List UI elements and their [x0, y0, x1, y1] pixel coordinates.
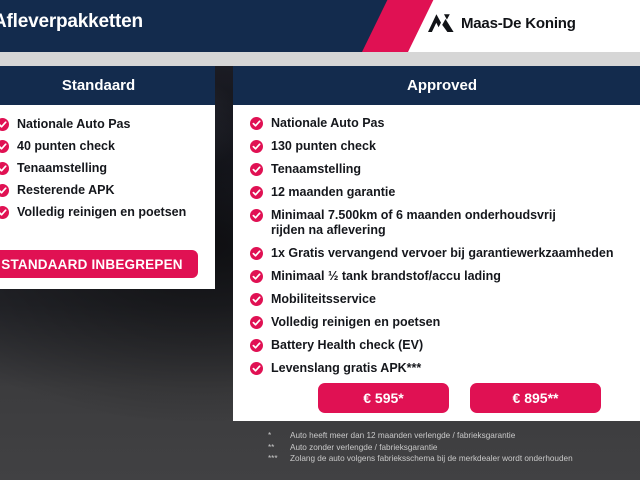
approved-feature-label: Battery Health check (EV) [271, 338, 423, 352]
approved-feature-label: Levenslang gratis APK*** [271, 361, 421, 375]
check-circle-icon [250, 270, 263, 283]
approved-feature-text-wrap: Tenaamstelling [271, 162, 361, 177]
check-circle-icon [0, 118, 9, 131]
check-circle-icon [250, 163, 263, 176]
brand-logo: Maas-De Koning [428, 13, 576, 33]
approved-feature-text-wrap: Minimaal 7.500km of 6 maanden onderhouds… [271, 208, 556, 238]
standaard-feature-item: Tenaamstelling [0, 161, 215, 176]
page-title: Afleverpakketten [0, 11, 143, 33]
approved-feature-label: Tenaamstelling [271, 162, 361, 176]
approved-feature-item: Tenaamstelling [250, 162, 640, 177]
approved-feature-label: Mobiliteitsservice [271, 292, 376, 306]
footnote-text: Zolang de auto volgens fabrieksschema bi… [290, 453, 573, 465]
check-circle-icon [250, 362, 263, 375]
approved-feature-text-wrap: Volledig reinigen en poetsen [271, 315, 440, 330]
price-button-1[interactable]: € 595* [318, 383, 449, 413]
approved-feature-item: Minimaal 7.500km of 6 maanden onderhouds… [250, 208, 640, 238]
approved-feature-item: 12 maanden garantie [250, 185, 640, 200]
check-circle-icon [250, 186, 263, 199]
standaard-feature-item: Volledig reinigen en poetsen [0, 205, 215, 220]
price-button-row: € 595*€ 895** [233, 383, 640, 413]
approved-feature-text-wrap: 12 maanden garantie [271, 185, 395, 200]
approved-card-heading: Approved [233, 66, 640, 105]
check-circle-icon [250, 270, 263, 283]
check-circle-icon [250, 117, 263, 130]
check-circle-icon [250, 186, 263, 199]
page-header: Afleverpakketten Maas-De Koning [0, 0, 640, 52]
check-circle-icon [250, 339, 263, 352]
check-circle-icon [0, 140, 9, 153]
standaard-feature-label: Resterende APK [17, 183, 115, 198]
standaard-feature-item: 40 punten check [0, 139, 215, 154]
footnote-marker: *** [268, 453, 290, 465]
maas-de-koning-m-icon [428, 13, 454, 33]
approved-feature-item: Minimaal ½ tank brandstof/accu lading [250, 269, 640, 284]
approved-feature-item: Levenslang gratis APK*** [250, 361, 640, 376]
check-circle-icon [250, 316, 263, 329]
price-button-2[interactable]: € 895** [470, 383, 601, 413]
check-circle-icon [0, 206, 9, 219]
approved-feature-label: 12 maanden garantie [271, 185, 395, 199]
standaard-feature-label: Volledig reinigen en poetsen [17, 205, 186, 220]
footnote-text: Auto zonder verlengde / fabrieksgarantie [290, 442, 437, 454]
approved-feature-label: 130 punten check [271, 139, 376, 153]
approved-feature-list: Nationale Auto Pas130 punten checkTenaam… [250, 116, 640, 376]
check-circle-icon [250, 140, 263, 153]
footnote-marker: * [268, 430, 290, 442]
approved-feature-text-wrap: Mobiliteitsservice [271, 292, 376, 307]
approved-feature-item: Volledig reinigen en poetsen [250, 315, 640, 330]
approved-feature-label: Minimaal 7.500km of 6 maanden onderhouds… [271, 208, 556, 222]
header-divider-band [0, 52, 640, 66]
footnote-list: *Auto heeft meer dan 12 maanden verlengd… [268, 430, 640, 465]
check-circle-icon [0, 162, 9, 175]
approved-feature-text-wrap: Minimaal ½ tank brandstof/accu lading [271, 269, 501, 284]
check-circle-icon [0, 140, 9, 153]
standaard-card-heading: Standaard [0, 66, 215, 105]
check-circle-icon [0, 206, 9, 219]
footnote-row: *Auto heeft meer dan 12 maanden verlengd… [268, 430, 640, 442]
standaard-feature-list: Nationale Auto Pas40 punten checkTenaams… [0, 117, 215, 220]
check-circle-icon [0, 184, 9, 197]
standaard-feature-label: 40 punten check [17, 139, 115, 154]
afleverpakketten-slide: Afleverpakketten Maas-De Koning Standaar… [0, 0, 640, 480]
approved-feature-label: 1x Gratis vervangend vervoer bij garanti… [271, 246, 614, 260]
check-circle-icon [250, 293, 263, 306]
footnote-row: ***Zolang de auto volgens fabrieksschema… [268, 453, 640, 465]
standaard-included-badge[interactable]: STANDAARD INBEGREPEN [0, 250, 198, 278]
approved-feature-text-wrap: Levenslang gratis APK*** [271, 361, 421, 376]
check-circle-icon [0, 184, 9, 197]
approved-feature-item: 130 punten check [250, 139, 640, 154]
standaard-card-body: Nationale Auto Pas40 punten checkTenaams… [0, 105, 215, 220]
standaard-feature-item: Resterende APK [0, 183, 215, 198]
brand-name: Maas-De Koning [461, 15, 576, 32]
approved-feature-label: Volledig reinigen en poetsen [271, 315, 440, 329]
approved-feature-item: 1x Gratis vervangend vervoer bij garanti… [250, 246, 640, 261]
approved-feature-label: Nationale Auto Pas [271, 116, 384, 130]
approved-feature-label-line2: rijden na aflevering [271, 223, 556, 238]
approved-feature-item: Mobiliteitsservice [250, 292, 640, 307]
standaard-feature-label: Tenaamstelling [17, 161, 107, 176]
approved-feature-text-wrap: 1x Gratis vervangend vervoer bij garanti… [271, 246, 614, 261]
check-circle-icon [0, 162, 9, 175]
check-circle-icon [250, 209, 263, 222]
check-circle-icon [250, 117, 263, 130]
check-circle-icon [250, 247, 263, 260]
approved-feature-label: Minimaal ½ tank brandstof/accu lading [271, 269, 501, 283]
standaard-feature-label: Nationale Auto Pas [17, 117, 130, 132]
approved-feature-text-wrap: 130 punten check [271, 139, 376, 154]
standaard-feature-item: Nationale Auto Pas [0, 117, 215, 132]
check-circle-icon [250, 362, 263, 375]
approved-card-body: Nationale Auto Pas130 punten checkTenaam… [233, 105, 640, 376]
approved-feature-text-wrap: Battery Health check (EV) [271, 338, 423, 353]
approved-feature-item: Battery Health check (EV) [250, 338, 640, 353]
footnote-text: Auto heeft meer dan 12 maanden verlengde… [290, 430, 515, 442]
check-circle-icon [0, 118, 9, 131]
footnote-marker: ** [268, 442, 290, 454]
check-circle-icon [250, 316, 263, 329]
check-circle-icon [250, 163, 263, 176]
check-circle-icon [250, 209, 263, 222]
check-circle-icon [250, 293, 263, 306]
approved-package-card: Approved Nationale Auto Pas130 punten ch… [233, 66, 640, 421]
check-circle-icon [250, 339, 263, 352]
footnote-row: **Auto zonder verlengde / fabrieksgarant… [268, 442, 640, 454]
approved-feature-text-wrap: Nationale Auto Pas [271, 116, 384, 131]
check-circle-icon [250, 247, 263, 260]
check-circle-icon [250, 140, 263, 153]
approved-feature-item: Nationale Auto Pas [250, 116, 640, 131]
